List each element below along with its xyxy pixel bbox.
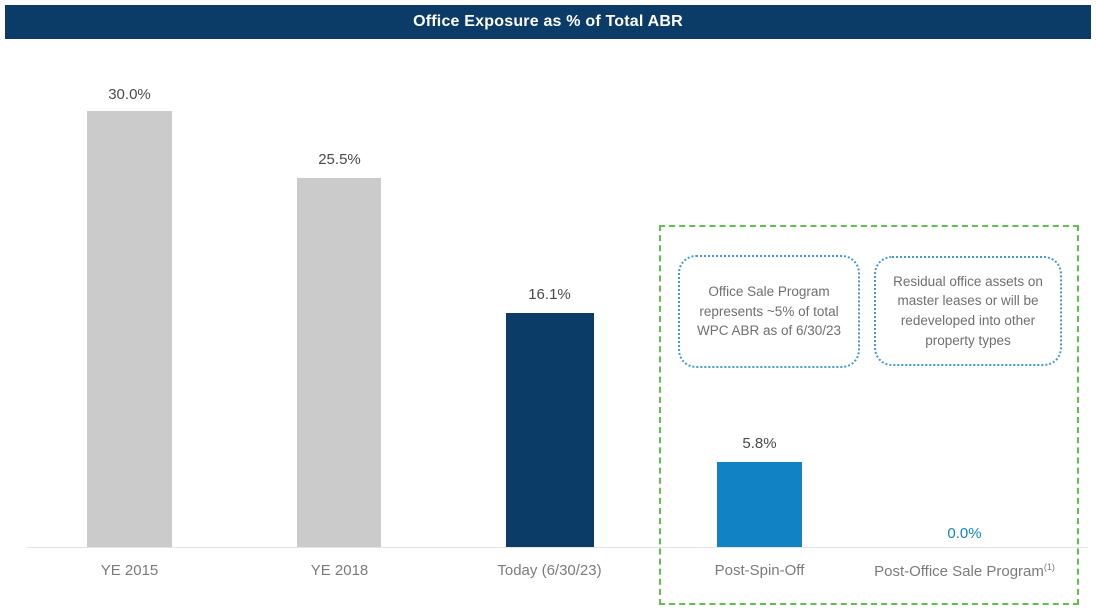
bar-value-post-office-sale-program: 0.0% xyxy=(892,526,1037,541)
bar-ye-2018[interactable] xyxy=(297,178,381,547)
chart-title-banner: Office Exposure as % of Total ABR xyxy=(5,5,1091,39)
category-label-post-office-sale-program-text: Post-Office Sale Program xyxy=(874,563,1044,580)
chart-plot-area: 30.0% YE 2015 25.5% YE 2018 16.1% Today … xyxy=(0,39,1096,612)
bar-value-today: 16.1% xyxy=(477,287,622,302)
category-label-ye-2015: YE 2015 xyxy=(57,563,202,578)
callout-residual-office-assets: Residual office assets on master leases … xyxy=(874,256,1062,366)
bar-value-post-spin-off: 5.8% xyxy=(687,436,832,451)
category-label-post-office-sale-program: Post-Office Sale Program(1) xyxy=(862,563,1067,579)
x-axis-line xyxy=(27,547,1088,548)
category-label-ye-2018: YE 2018 xyxy=(267,563,412,578)
bar-today[interactable] xyxy=(506,313,594,547)
page-title: Office Exposure as % of Total ABR xyxy=(413,14,683,30)
category-label-today: Today (6/30/23) xyxy=(467,563,632,578)
footnote-marker: (1) xyxy=(1044,562,1055,572)
bar-value-ye-2015: 30.0% xyxy=(57,87,202,102)
bar-ye-2015[interactable] xyxy=(87,111,172,547)
bar-post-spin-off[interactable] xyxy=(717,462,802,547)
callout-office-sale-program-text: Office Sale Program represents ~5% of to… xyxy=(680,282,858,341)
category-label-post-spin-off: Post-Spin-Off xyxy=(687,563,832,578)
callout-office-sale-program: Office Sale Program represents ~5% of to… xyxy=(678,255,860,368)
bar-value-ye-2018: 25.5% xyxy=(267,152,412,167)
callout-residual-office-assets-text: Residual office assets on master leases … xyxy=(876,272,1060,350)
